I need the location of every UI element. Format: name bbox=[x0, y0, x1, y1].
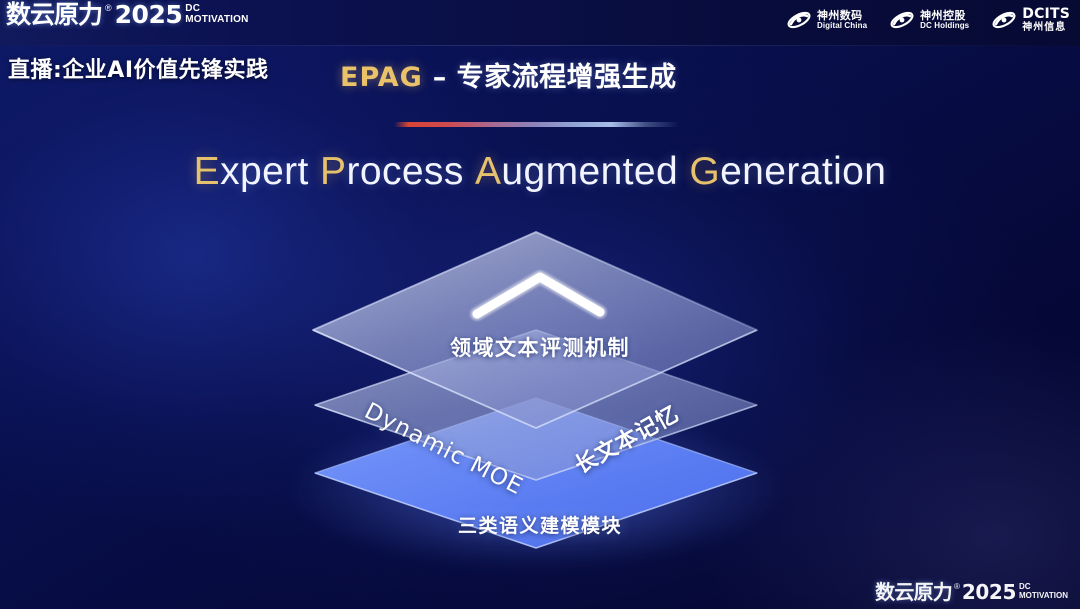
word-2-capital: P bbox=[320, 150, 346, 193]
bottom-layer-glow bbox=[286, 410, 786, 570]
event-logo-subtitle: DC MOTIVATION bbox=[185, 2, 248, 25]
event-logo-year: 2025 bbox=[115, 2, 183, 28]
chevron-up-icon bbox=[477, 277, 600, 314]
live-stream-title: 直播:企业AI价值先锋实践 bbox=[8, 52, 269, 84]
partner-logo-dcits: DCITS 神州信息 bbox=[991, 7, 1070, 33]
word-1-capital: E bbox=[194, 150, 220, 193]
event-logo-registered-mark: ® bbox=[105, 2, 112, 14]
partner-logo-digital-china: 神州数码 Digital China bbox=[786, 8, 867, 32]
layer-bottom-label: 三类语义建模模块 bbox=[0, 511, 1080, 538]
bottom-watermark-logo: 数云原力 ® 2025 DC MOTIVATION bbox=[875, 582, 1068, 603]
layer-top-plate bbox=[313, 232, 757, 428]
chevron-up-icon-core bbox=[477, 277, 600, 314]
partner-logos: 神州数码 Digital China 神州控股 DC Holdings bbox=[786, 7, 1070, 33]
partner-name-en: 神州信息 bbox=[1022, 23, 1070, 34]
word-4-rest: eneration bbox=[720, 150, 886, 193]
headline-acronym: EPAG bbox=[340, 62, 423, 93]
watermark-year: 2025 bbox=[962, 582, 1016, 603]
partner-name-cn: 神州数码 bbox=[817, 10, 867, 22]
swirl-logo-icon bbox=[786, 8, 812, 32]
partner-logo-text: DCITS 神州信息 bbox=[1022, 7, 1070, 33]
headline-chinese: 专家流程增强生成 bbox=[457, 62, 677, 93]
event-logo-name: 数云原力 bbox=[6, 2, 102, 28]
partner-name-cn: DCITS bbox=[1022, 7, 1070, 22]
watermark-registered-mark: ® bbox=[954, 582, 960, 592]
slide-headline: EPAG – 专家流程增强生成 bbox=[340, 55, 677, 94]
layer-middle-label-right: 长文本记忆 bbox=[568, 396, 684, 480]
gradient-divider bbox=[394, 122, 680, 127]
space-2 bbox=[464, 150, 475, 193]
partner-logo-dc-holdings: 神州控股 DC Holdings bbox=[889, 8, 969, 32]
event-logo-dc: DC bbox=[185, 4, 248, 14]
watermark-name: 数云原力 bbox=[875, 582, 952, 603]
word-3-rest: ugmented bbox=[501, 150, 678, 193]
layer-top-label: 领域文本评测机制 bbox=[0, 332, 1080, 362]
word-4-capital: G bbox=[689, 150, 720, 193]
partner-logo-text: 神州控股 DC Holdings bbox=[920, 10, 969, 31]
event-logo: 数云原力 ® 2025 DC MOTIVATION bbox=[6, 2, 249, 28]
expanded-acronym-title: Expert Process Augmented Generation bbox=[0, 150, 1080, 194]
space-1 bbox=[309, 150, 320, 193]
space-3 bbox=[678, 150, 689, 193]
word-3-capital: A bbox=[475, 150, 501, 193]
word-2-rest: rocess bbox=[346, 150, 463, 193]
layer-middle-label-left: Dynamic MOE bbox=[360, 398, 527, 500]
presentation-slide: 数云原力 ® 2025 DC MOTIVATION 神州数码 Digital C… bbox=[0, 0, 1080, 609]
watermark-dc: DC bbox=[1019, 583, 1068, 591]
partner-logo-text: 神州数码 Digital China bbox=[817, 10, 867, 31]
watermark-subtitle: DC MOTIVATION bbox=[1019, 582, 1068, 600]
swirl-logo-icon bbox=[889, 8, 915, 32]
swirl-logo-icon bbox=[991, 8, 1017, 32]
layer-top bbox=[313, 232, 757, 428]
word-1-rest: xpert bbox=[220, 150, 309, 193]
event-logo-motivation: MOTIVATION bbox=[185, 14, 248, 25]
watermark-motivation: MOTIVATION bbox=[1019, 591, 1068, 600]
headline-separator: – bbox=[423, 62, 457, 93]
partner-name-cn: 神州控股 bbox=[920, 10, 969, 22]
partner-name-en: Digital China bbox=[817, 22, 867, 30]
partner-name-en: DC Holdings bbox=[920, 22, 969, 30]
